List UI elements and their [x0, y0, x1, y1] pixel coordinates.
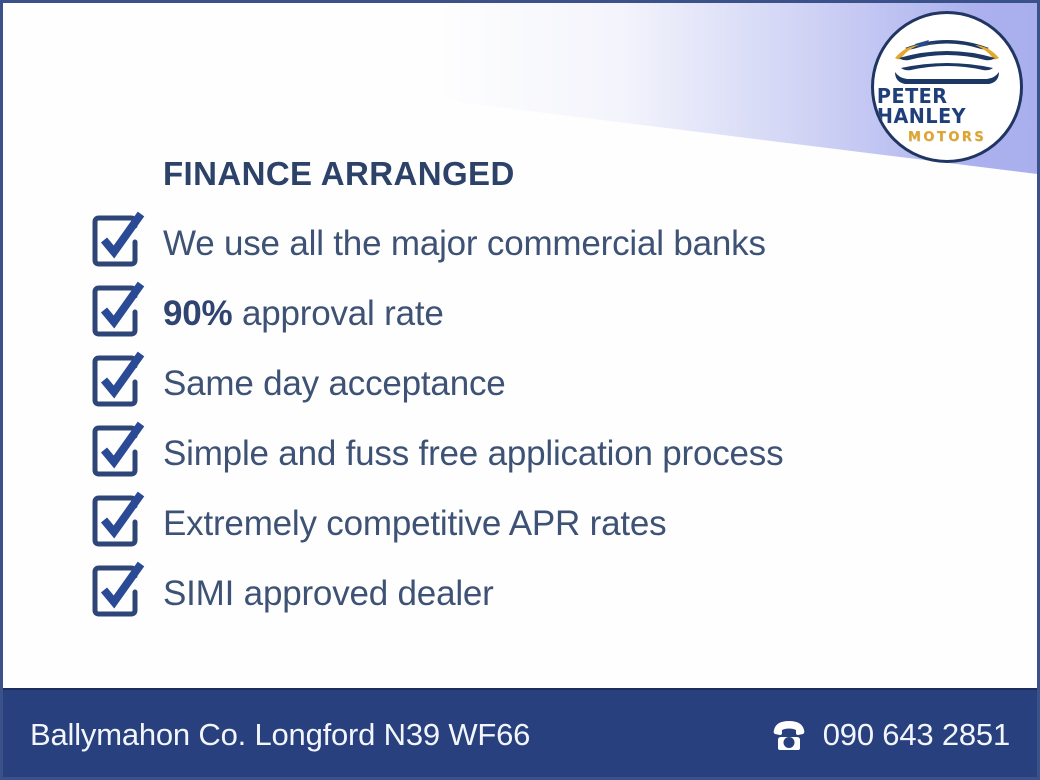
list-item-label: SIMI approved dealer: [163, 576, 494, 611]
dealer-logo-badge: PETER HANLEY MOTORS: [871, 11, 1023, 163]
telephone-icon: [769, 718, 809, 752]
list-item: SIMI approved dealer: [91, 558, 991, 628]
feature-list: We use all the major commercial banks 90…: [91, 208, 991, 628]
list-item-label: We use all the major commercial banks: [163, 226, 766, 261]
poster-canvas: PETER HANLEY MOTORS FINANCE ARRANGED We …: [3, 3, 1037, 777]
car-front-icon: [885, 28, 1009, 88]
list-item: We use all the major commercial banks: [91, 208, 991, 278]
list-item: 90% approval rate: [91, 278, 991, 348]
list-item: Simple and fuss free application process: [91, 418, 991, 488]
list-item-label: 90% approval rate: [163, 296, 444, 331]
page-title: FINANCE ARRANGED: [163, 155, 515, 193]
list-item-label: Same day acceptance: [163, 366, 506, 401]
list-item-highlight: 90%: [163, 294, 232, 333]
checkbox-checked-icon: [91, 424, 149, 482]
phone-number: 090 643 2851: [823, 717, 1010, 753]
logo-brand-name: PETER HANLEY: [877, 86, 1017, 126]
list-item-label: Simple and fuss free application process: [163, 436, 783, 471]
footer-bar: Ballymahon Co. Longford N39 WF66 090 643…: [3, 688, 1037, 777]
checkbox-checked-icon: [91, 284, 149, 342]
list-item: Extremely competitive APR rates: [91, 488, 991, 558]
list-item-label-rest: approval rate: [232, 294, 443, 333]
list-item: Same day acceptance: [91, 348, 991, 418]
dealer-address: Ballymahon Co. Longford N39 WF66: [30, 717, 530, 753]
list-item-label: Extremely competitive APR rates: [163, 506, 666, 541]
logo-brand-sub: MOTORS: [908, 131, 986, 144]
finance-advert-poster: PETER HANLEY MOTORS FINANCE ARRANGED We …: [0, 0, 1040, 780]
checkbox-checked-icon: [91, 354, 149, 412]
checkbox-checked-icon: [91, 494, 149, 552]
checkbox-checked-icon: [91, 214, 149, 272]
checkbox-checked-icon: [91, 564, 149, 622]
dealer-phone[interactable]: 090 643 2851: [769, 717, 1010, 753]
